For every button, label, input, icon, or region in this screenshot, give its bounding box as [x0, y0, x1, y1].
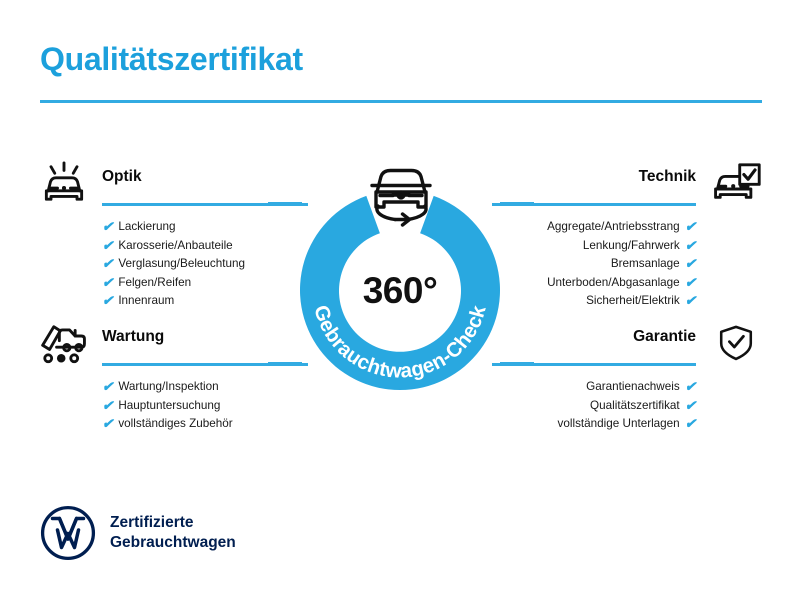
- list-item-label: Unterboden/Abgasanlage: [547, 277, 680, 289]
- badge-degrees: 360°: [298, 270, 502, 312]
- list-item: ✔Lackierung: [102, 218, 308, 236]
- list-item-label: vollständige Unterlagen: [558, 418, 680, 430]
- check-icon: ✔: [685, 220, 696, 234]
- check-icon: ✔: [685, 417, 696, 431]
- footer-line-1: Zertifizierte: [110, 513, 236, 533]
- check-icon: ✔: [102, 220, 113, 234]
- check-icon: ✔: [102, 276, 113, 290]
- list-item: Unterboden/Abgasanlage✔: [492, 273, 696, 291]
- footer-text: Zertifizierte Gebrauchtwagen: [110, 513, 236, 553]
- shield-check-icon: [708, 318, 764, 366]
- check-icon: ✔: [102, 239, 113, 253]
- check-icon: ✔: [685, 276, 696, 290]
- list-item: Aggregate/Antriebsstrang✔: [492, 218, 696, 236]
- section-title-wartung: Wartung: [102, 328, 164, 346]
- section-underline-garantie: [492, 363, 696, 366]
- check-icon: ✔: [685, 239, 696, 253]
- checklist-garantie: Garantienachweis✔ Qualitätszertifikat✔ v…: [492, 378, 764, 433]
- list-item-label: Sicherheit/Elektrik: [586, 295, 680, 307]
- section-underline-technik: [492, 203, 696, 206]
- list-item-label: vollständiges Zubehör: [118, 418, 232, 430]
- list-item: vollständige Unterlagen✔: [492, 415, 696, 433]
- list-item-label: Karosserie/Anbauteile: [118, 240, 232, 252]
- list-item-label: Innenraum: [118, 295, 174, 307]
- list-item-label: Lenkung/Fahrwerk: [583, 240, 680, 252]
- list-item: Garantienachweis✔: [492, 378, 696, 396]
- volkswagen-logo: [40, 505, 96, 561]
- section-underline-wartung: [102, 363, 308, 366]
- list-item: ✔vollständiges Zubehör: [102, 415, 308, 433]
- list-item: Lenkung/Fahrwerk✔: [492, 236, 696, 254]
- list-item: ✔Felgen/Reifen: [102, 273, 308, 291]
- check-icon: ✔: [685, 380, 696, 394]
- car-rotate-360-icon: [355, 158, 447, 236]
- car-checkbox-icon: [708, 158, 764, 206]
- page-title: Qualitätszertifikat: [40, 41, 303, 78]
- check-icon: ✔: [102, 417, 113, 431]
- section-wartung: Wartung ✔Wartung/Inspektion ✔Hauptunters…: [36, 318, 308, 433]
- list-item-label: Verglasung/Beleuchtung: [118, 258, 245, 270]
- list-item: ✔Hauptuntersuchung: [102, 396, 308, 414]
- checklist-technik: Aggregate/Antriebsstrang✔ Lenkung/Fahrwe…: [492, 218, 764, 310]
- service-book-car-icon: [36, 318, 92, 366]
- check-icon: ✔: [102, 257, 113, 271]
- section-title-garantie: Garantie: [633, 328, 696, 346]
- list-item-label: Lackierung: [118, 221, 175, 233]
- section-title-technik: Technik: [639, 168, 696, 186]
- section-optik: Optik ✔Lackierung ✔Karosserie/Anbauteile…: [36, 158, 308, 310]
- check-icon: ✔: [685, 294, 696, 308]
- list-item-label: Qualitätszertifikat: [590, 400, 680, 412]
- section-header-technik: Technik: [492, 158, 764, 210]
- check-icon: ✔: [685, 257, 696, 271]
- badge-360-gebrauchtwagen-check: Gebrauchtwagen-Check 360°: [298, 188, 502, 392]
- list-item: ✔Innenraum: [102, 292, 308, 310]
- list-item: Qualitätszertifikat✔: [492, 396, 696, 414]
- check-icon: ✔: [102, 294, 113, 308]
- checklist-optik: ✔Lackierung ✔Karosserie/Anbauteile ✔Verg…: [36, 218, 308, 310]
- list-item-label: Wartung/Inspektion: [118, 381, 218, 393]
- list-item: Sicherheit/Elektrik✔: [492, 292, 696, 310]
- check-icon: ✔: [102, 399, 113, 413]
- list-item: ✔Wartung/Inspektion: [102, 378, 308, 396]
- list-item-label: Garantienachweis: [586, 381, 680, 393]
- section-technik: Technik Aggregate/Antriebsstrang✔ Lenkun…: [492, 158, 764, 310]
- section-underline-optik: [102, 203, 308, 206]
- footer-line-2: Gebrauchtwagen: [110, 533, 236, 553]
- list-item: Bremsanlage✔: [492, 255, 696, 273]
- list-item-label: Hauptuntersuchung: [118, 400, 220, 412]
- section-header-wartung: Wartung: [36, 318, 308, 370]
- section-header-garantie: Garantie: [492, 318, 764, 370]
- checklist-wartung: ✔Wartung/Inspektion ✔Hauptuntersuchung ✔…: [36, 378, 308, 433]
- list-item: ✔Verglasung/Beleuchtung: [102, 255, 308, 273]
- check-icon: ✔: [685, 399, 696, 413]
- car-shine-icon: [36, 158, 92, 206]
- list-item-label: Felgen/Reifen: [118, 277, 191, 289]
- section-title-optik: Optik: [102, 168, 142, 186]
- footer-brand-lockup: Zertifizierte Gebrauchtwagen: [40, 505, 236, 561]
- section-header-optik: Optik: [36, 158, 308, 210]
- list-item: ✔Karosserie/Anbauteile: [102, 236, 308, 254]
- list-item-label: Bremsanlage: [611, 258, 680, 270]
- section-garantie: Garantie Garantienachweis✔ Qualitätszert…: [492, 318, 764, 433]
- quality-certificate-page: Qualitätszertifikat: [0, 0, 800, 600]
- list-item-label: Aggregate/Antriebsstrang: [547, 221, 680, 233]
- check-icon: ✔: [102, 380, 113, 394]
- title-divider: [40, 100, 762, 103]
